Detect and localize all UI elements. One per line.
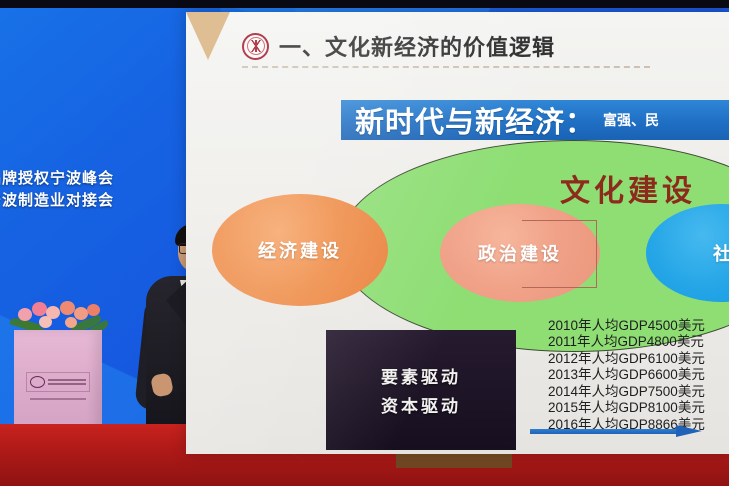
podium-text-lines [48, 379, 86, 385]
gdp-row: 2012年人均GDP6100美元 [548, 351, 705, 367]
slide-banner-main: 新时代与新经济： [355, 100, 595, 140]
gdp-row: 2010年人均GDP4500美元 [548, 318, 705, 334]
screenshot-root: 品牌授权宁波峰会 宁波制造业对接会 [0, 0, 729, 486]
projected-slide: 一、文化新经济的价值逻辑 新时代与新经济： 富强、民 文化建设 经济建设 政治建… [186, 12, 729, 454]
ellipse-economic-construction: 经济建设 [212, 194, 388, 306]
title-divider [242, 66, 650, 68]
driver-line-2: 资本驱动 [381, 392, 461, 417]
dark-panel-drivers: 要素驱动 资本驱动 [326, 330, 516, 450]
event-banner: 品牌授权宁波峰会 宁波制造业对接会 [0, 168, 132, 212]
podium-subtext-line [30, 398, 86, 400]
slide-banner-sub: 富强、民 [603, 110, 659, 130]
driver-line-1: 要素驱动 [381, 363, 461, 388]
ellipse-social-label: 社会 [687, 240, 729, 266]
gdp-row: 2014年人均GDP7500美元 [548, 384, 705, 400]
gdp-row: 2013年人均GDP6600美元 [548, 367, 705, 383]
gdp-list: 2010年人均GDP4500美元 2011年人均GDP4800美元 2012年人… [548, 318, 705, 433]
culture-construction-label: 文化建设 [560, 166, 696, 210]
event-banner-line-1: 品牌授权宁波峰会 [0, 168, 132, 190]
slide-header: 一、文化新经济的价值逻辑 [242, 30, 555, 62]
podium-logo-plate [26, 372, 90, 392]
event-banner-line-2: 宁波制造业对接会 [0, 190, 132, 212]
decorative-frame-line [522, 220, 597, 288]
slide-banner-bar: 新时代与新经济： 富强、民 [341, 100, 729, 140]
page-title: 一、文化新经济的价值逻辑 [279, 30, 555, 62]
gold-triangle-ornament [186, 12, 230, 60]
peking-university-seal-icon [242, 33, 269, 60]
podium-seal-icon [30, 376, 45, 388]
gdp-row: 2011年人均GDP4800美元 [548, 334, 705, 350]
gdp-row: 2015年人均GDP8100美元 [548, 400, 705, 416]
timeline-arrow-icon [530, 426, 702, 436]
ellipse-economic-label: 经济建设 [258, 237, 342, 263]
